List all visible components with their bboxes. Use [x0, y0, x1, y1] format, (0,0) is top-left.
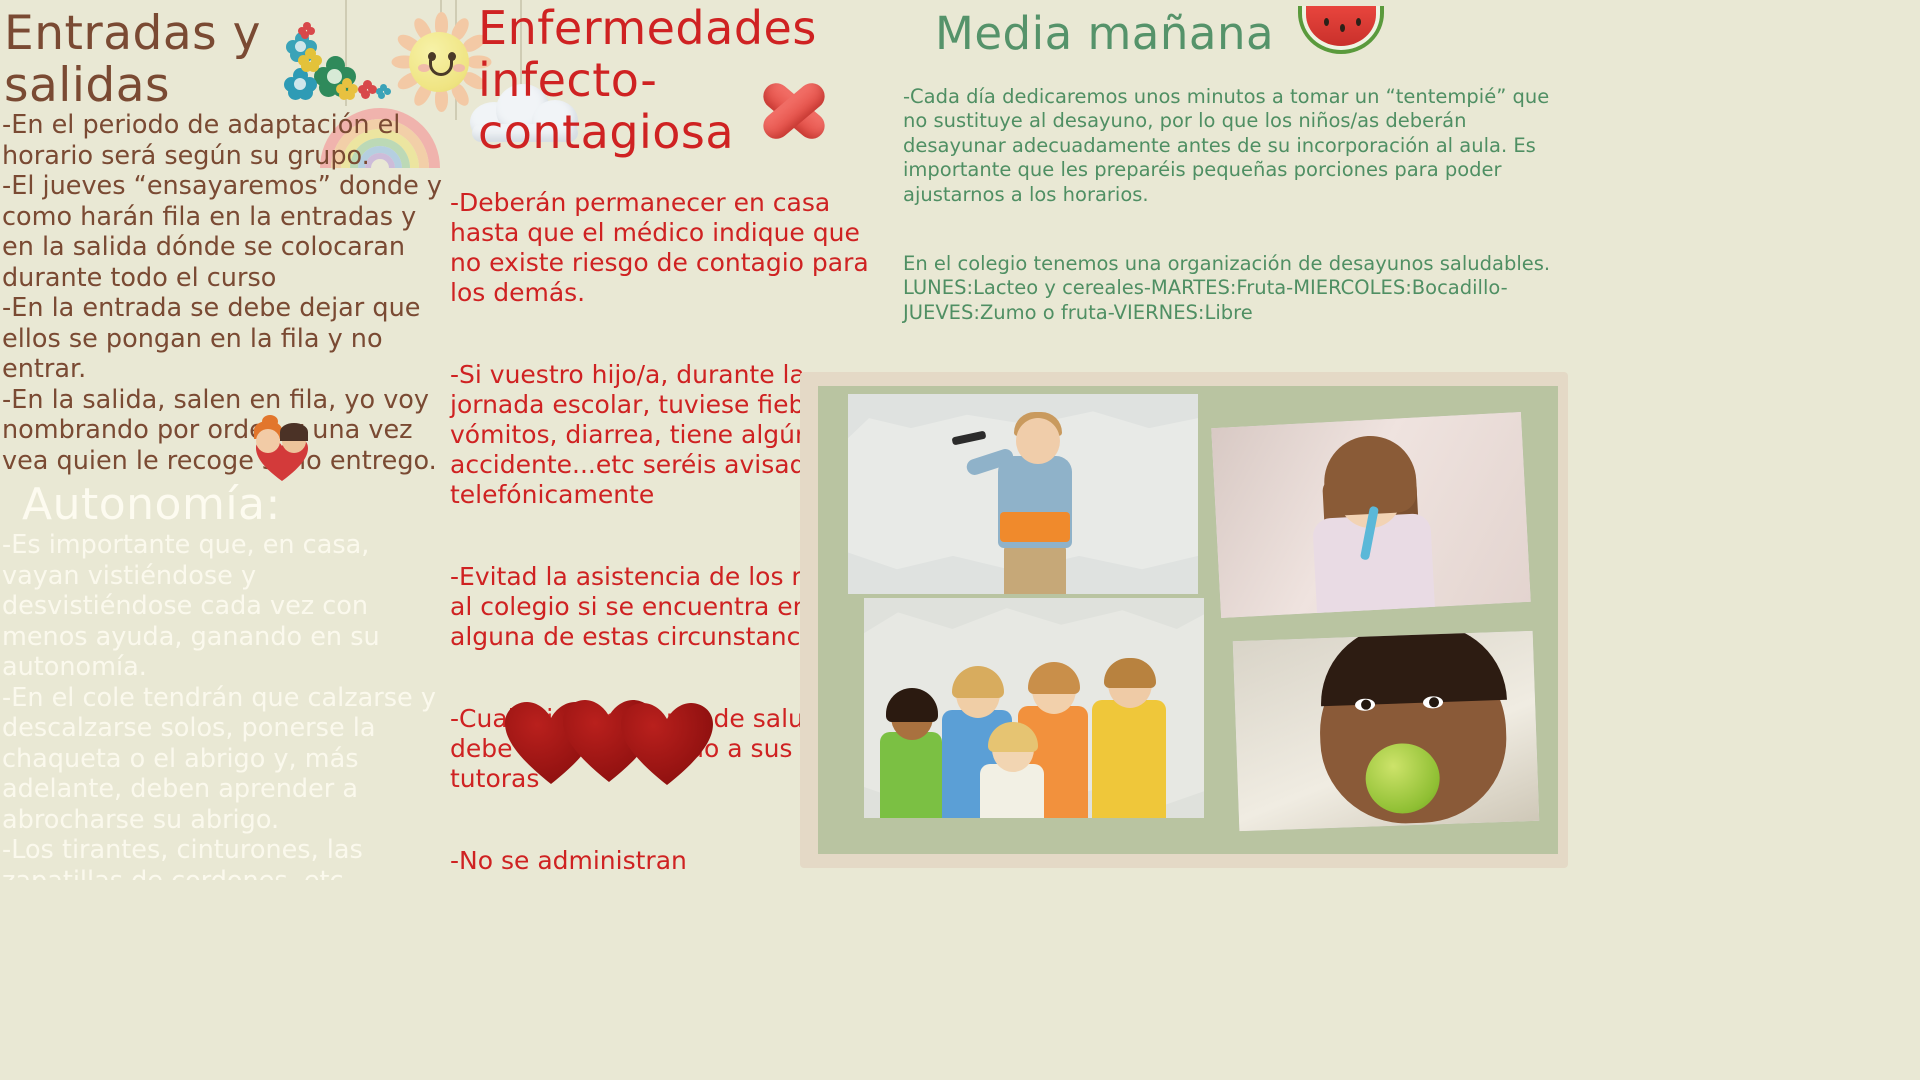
- canvas-bottom-margin: [0, 880, 1568, 1080]
- photo-child-eating-apple: Niño comiendo una manzana: [1233, 631, 1539, 831]
- photo-group-of-children: Grupo de niños: [864, 598, 1204, 818]
- collage-background: Niño jugando Niña lavándose los dientes: [818, 386, 1558, 854]
- photo-girl-brushing-teeth: Niña lavándose los dientes: [1211, 412, 1531, 618]
- paragraph-enfermedades-0: -Deberán permanecer en casa hasta que el…: [450, 188, 876, 308]
- heading-media-manana: Media mañana: [895, 0, 1565, 60]
- couple-heart-icon: [252, 421, 312, 479]
- heading-enfermedades-infecto-contagiosa: Enfermedades infecto-contagiosa: [446, 0, 826, 158]
- heading-entradas-salidas: Entradas y salidas: [0, 0, 300, 112]
- text-entradas-salidas: -En el periodo de adaptación el horario …: [0, 110, 442, 476]
- photo-collage: Niño jugando Niña lavándose los dientes: [800, 372, 1568, 868]
- column-entradas-salidas: Entradas y salidas -En el periodo de ada…: [0, 0, 442, 880]
- heading-autonomia: Autonomía:: [0, 480, 442, 530]
- canvas-right-margin: [1568, 0, 1920, 1080]
- poster-canvas: Entradas y salidas -En el periodo de ada…: [0, 0, 1568, 880]
- paragraph-media-1: En el colegio tenemos una organización d…: [903, 252, 1565, 326]
- paragraph-media-0: -Cada día dedicaremos unos minutos a tom…: [903, 85, 1565, 208]
- text-autonomia: -Es importante que, en casa, vayan visti…: [0, 530, 442, 880]
- photo-boy-playing: Niño jugando: [848, 394, 1198, 594]
